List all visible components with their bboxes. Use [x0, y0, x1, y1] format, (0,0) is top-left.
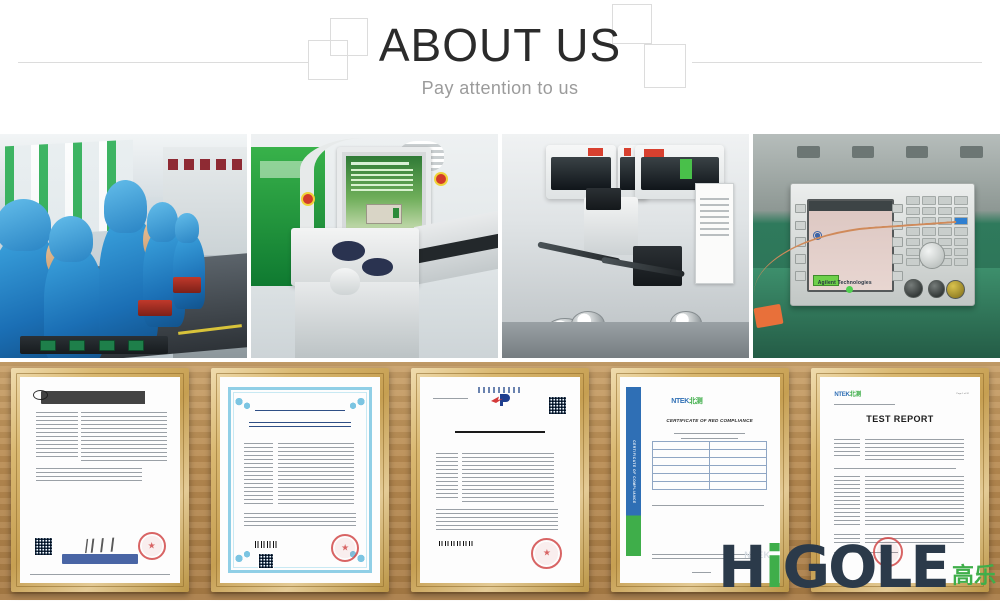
corner-ornament — [233, 396, 253, 410]
photo-agilent-test-equipment: Agilent Technologies — [753, 134, 1000, 358]
frame-mat: CERTIFICATE OF COMPLIANCE NTEK北测 CERTIFI… — [620, 377, 780, 583]
photo-aoi-inspection-machine — [251, 134, 498, 358]
picture-frame — [411, 368, 589, 592]
clipboard — [695, 183, 734, 284]
corner-ornament — [233, 550, 253, 564]
red-footnote — [652, 505, 764, 508]
copyright-field-labels — [244, 443, 273, 505]
factory-photo-row: Agilent Technologies — [0, 134, 1000, 358]
photo-pick-and-place-machine — [502, 134, 749, 358]
report-declaration — [834, 468, 956, 471]
copyright-field-values — [278, 443, 355, 505]
cnipa-logo-icon — [490, 393, 512, 407]
corner-ornament — [347, 396, 367, 410]
ccc-red-seal — [138, 532, 166, 560]
page-subtitle: Pay attention to us — [0, 78, 1000, 99]
ccc-footer — [30, 574, 171, 577]
report-sample-labels — [834, 476, 860, 525]
ccc-issuer-line — [62, 554, 139, 564]
page-header: ABOUT US Pay attention to us — [0, 0, 1000, 120]
red-directive-line — [674, 433, 744, 436]
patent-serial-no — [433, 398, 468, 401]
software-copyright-certificate — [220, 377, 380, 583]
red-standards-table — [652, 441, 767, 490]
machine-base — [295, 282, 419, 358]
emergency-stop-button[interactable] — [436, 174, 446, 184]
certificate-cell: NTEK北测 Page 1 of 32 TEST REPORT — [800, 362, 1000, 600]
copyright-note — [244, 513, 356, 527]
pcb-board — [99, 340, 115, 351]
certificate-cell — [0, 362, 200, 600]
about-us-page: ABOUT US Pay attention to us — [0, 0, 1000, 600]
frame-mat: NTEK北测 Page 1 of 32 TEST REPORT — [820, 377, 980, 583]
machine-head — [330, 268, 360, 295]
patent-red-seal — [531, 538, 562, 569]
patent-signature — [420, 377, 474, 396]
ccc-signature — [84, 537, 129, 554]
copyright-qr-code — [258, 553, 274, 569]
machine-window — [362, 258, 393, 275]
report-test-labels — [834, 534, 860, 546]
red-issuer-footer — [652, 554, 751, 562]
red-page-number — [692, 572, 711, 575]
report-red-seal — [873, 537, 903, 567]
red-compliance-title: CERTIFICATE OF RED COMPLIANCE — [652, 418, 767, 423]
ntek-logo: NTEK北测 — [834, 389, 861, 398]
ntek-logo: NTEK北测 — [671, 396, 702, 406]
patent-title — [455, 431, 545, 437]
feeder-hopper — [586, 188, 621, 210]
red-product-box — [138, 300, 172, 316]
certificate-cell — [200, 362, 400, 600]
frame-mat — [220, 377, 380, 583]
certificate-cell — [400, 362, 600, 600]
photo-assembly-line — [0, 134, 247, 358]
page-title: ABOUT US — [0, 22, 1000, 68]
report-number-line — [834, 404, 895, 407]
page-number: Page 1 of 32 — [956, 393, 968, 395]
ccc-certificate — [20, 377, 180, 583]
copyright-title — [249, 422, 351, 428]
ccc-body-values — [81, 412, 167, 461]
green-indicator — [680, 159, 692, 179]
certificate-sidebar: CERTIFICATE OF COMPLIANCE — [626, 387, 640, 556]
certificate-row: CERTIFICATE OF COMPLIANCE NTEK北测 CERTIFI… — [0, 362, 1000, 600]
red-product-box — [173, 277, 201, 293]
design-patent-certificate — [420, 377, 580, 583]
worker — [173, 233, 205, 309]
copyright-barcode — [255, 541, 277, 548]
report-field-values — [865, 439, 964, 462]
pcb-board — [128, 340, 144, 351]
pcb-board — [69, 340, 85, 351]
patent-qr-code — [548, 396, 567, 415]
certificate-cell: CERTIFICATE OF COMPLIANCE NTEK北测 CERTIFI… — [600, 362, 800, 600]
test-report-title: TEST REPORT — [820, 414, 980, 424]
patent-note — [436, 509, 558, 532]
patent-barcode — [439, 541, 473, 546]
picture-frame: NTEK北测 Page 1 of 32 TEST REPORT — [811, 368, 989, 592]
frame-mat — [420, 377, 580, 583]
ccc-title — [41, 391, 163, 403]
rf-cable — [753, 221, 964, 336]
ntek-watermark: NTEK — [744, 550, 770, 560]
patent-field-labels — [436, 453, 458, 498]
machine-window — [332, 241, 365, 261]
red-strip — [168, 159, 242, 170]
red-compliance-certificate: CERTIFICATE OF COMPLIANCE NTEK北测 CERTIFI… — [620, 377, 780, 583]
report-field-labels — [834, 439, 860, 460]
floor — [502, 322, 749, 358]
copyright-authority-line — [255, 410, 345, 414]
frame-mat — [20, 377, 180, 583]
picture-frame — [211, 368, 389, 592]
sidebar-label: CERTIFICATE OF COMPLIANCE — [632, 440, 636, 503]
test-report-certificate: NTEK北测 Page 1 of 32 TEST REPORT — [820, 377, 980, 583]
picture-frame: CERTIFICATE OF COMPLIANCE NTEK北测 CERTIFI… — [611, 368, 789, 592]
ccc-qr-code — [34, 537, 53, 556]
pcb-board — [40, 340, 56, 351]
patent-field-values — [462, 453, 555, 502]
picture-frame — [11, 368, 189, 592]
report-sample-values — [865, 476, 964, 525]
ccc-note-text — [36, 468, 142, 484]
header-text-block: ABOUT US Pay attention to us — [0, 0, 1000, 99]
ccc-body-text — [36, 412, 78, 457]
